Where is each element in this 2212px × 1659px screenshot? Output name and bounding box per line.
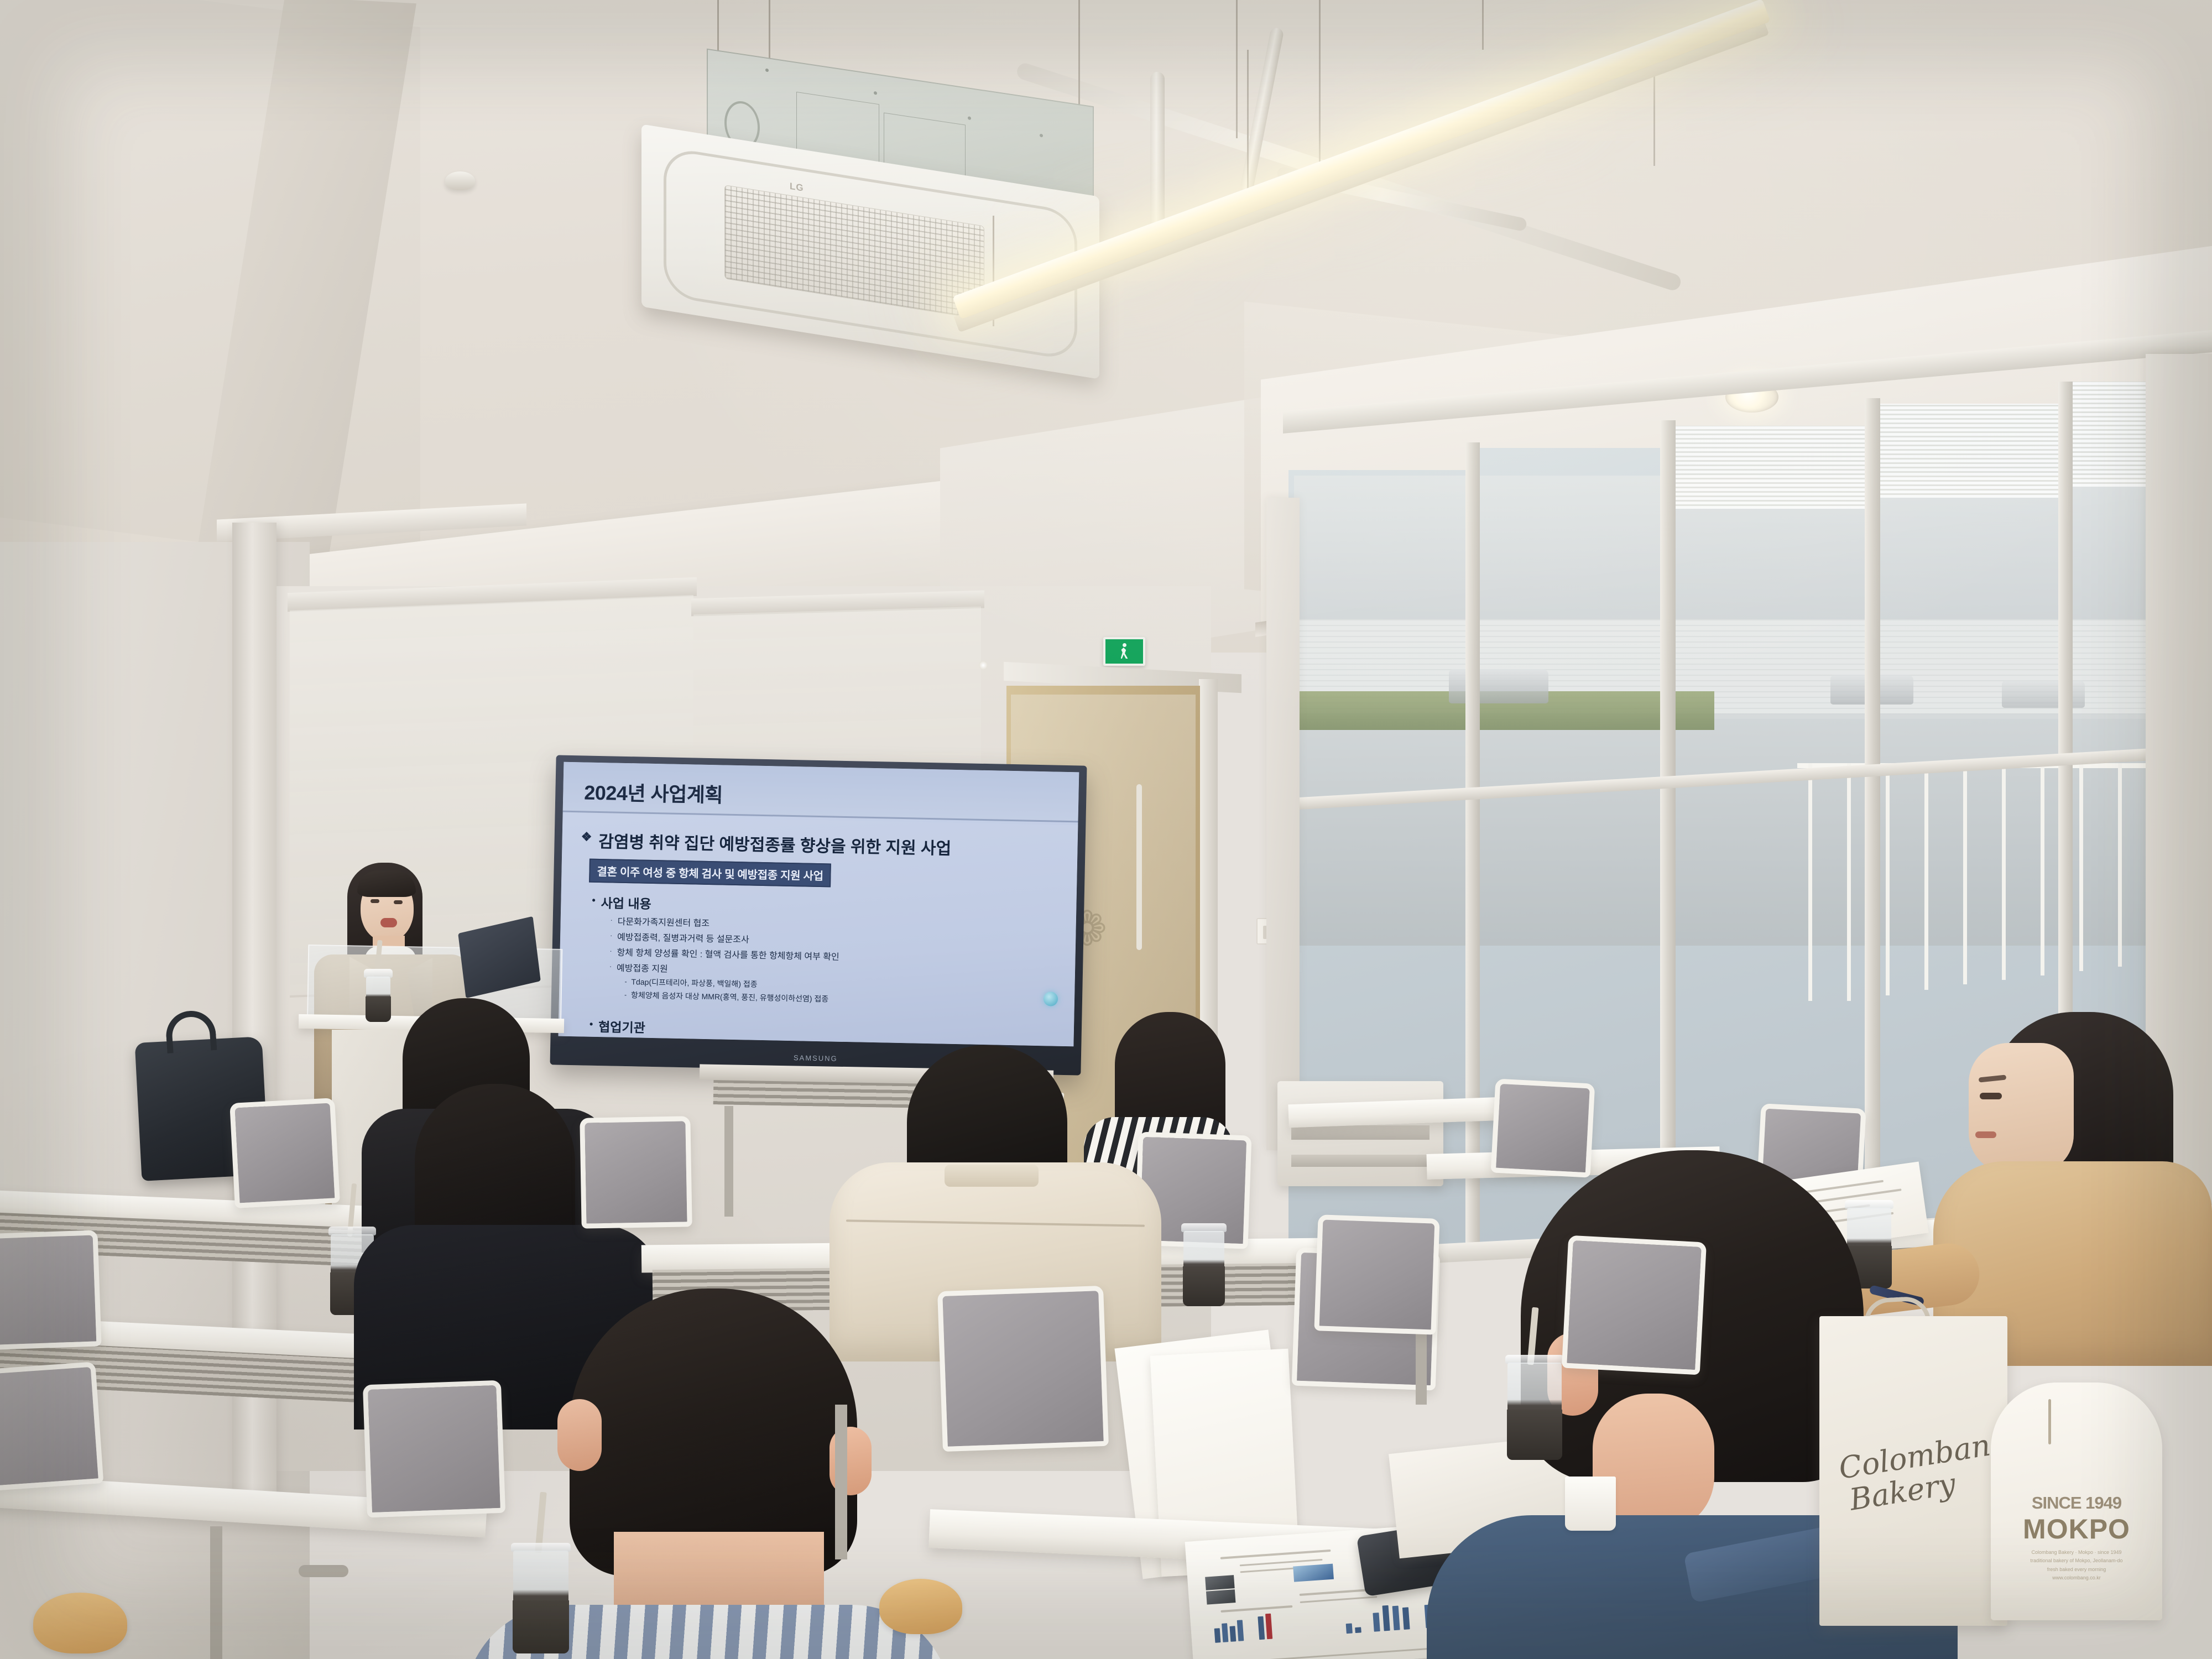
ceiling-smoke-detector bbox=[979, 661, 988, 670]
handout-thumbnail-3 bbox=[1293, 1564, 1334, 1582]
window-pier-1 bbox=[1266, 498, 1300, 1150]
presentation-display: 2024년 사업계획 ❖ 감염병 취약 집단 예방접종률 향상을 위한 지원 사… bbox=[550, 755, 1087, 1075]
pendant-wire-right bbox=[1653, 72, 1655, 166]
cup-sleeve bbox=[1507, 1410, 1562, 1460]
handout-thumbnail-1 bbox=[1205, 1575, 1235, 1590]
exit-sign bbox=[1103, 637, 1145, 666]
diamond-bullet-icon: ❖ bbox=[581, 827, 592, 846]
chair-backrest bbox=[0, 1230, 102, 1350]
attendee-mouth bbox=[1975, 1131, 1996, 1138]
presenter-mouth bbox=[380, 918, 397, 927]
bakery-box-city-label: MOKPO bbox=[1991, 1513, 2162, 1545]
slide-subitem-text: Tdap(디프테리아, 파상풍, 백일해) 접종 bbox=[631, 976, 757, 990]
pastry-front-center bbox=[879, 1579, 962, 1634]
cup-sleeve bbox=[513, 1600, 569, 1653]
bullet-icon-lv3-a: · bbox=[610, 914, 612, 927]
chair-backrest bbox=[0, 1361, 103, 1492]
photo-scene: LG ❁ ▭ bbox=[0, 0, 2212, 1659]
slide-main-bullet: ❖ 감염병 취약 집단 예방접종률 향상을 위한 지원 사업 bbox=[581, 827, 1059, 861]
pastry-front-left bbox=[33, 1593, 127, 1653]
handout-bar bbox=[1346, 1623, 1353, 1634]
window-blind-2[interactable] bbox=[1875, 404, 2063, 498]
window-blind-1[interactable] bbox=[1670, 426, 1869, 509]
pipe-hanger-1 bbox=[1236, 0, 1238, 138]
presenter-eye-left bbox=[371, 899, 379, 903]
bakery-bag: Colombang Bakery bbox=[1819, 1316, 2007, 1626]
exterior-car-1 bbox=[1449, 669, 1548, 703]
chair-caster bbox=[299, 1565, 348, 1577]
slide-item-text: 예방접종 지원 bbox=[617, 961, 668, 975]
slide-section-1-label-text: 사업 내용 bbox=[601, 893, 651, 912]
bullet-icon-lv3-b: · bbox=[610, 929, 612, 942]
chair-backrest bbox=[363, 1380, 505, 1518]
handout-bar bbox=[1229, 1626, 1236, 1642]
desk-leg-center bbox=[835, 1405, 847, 1559]
bullet-icon-lv3-d: · bbox=[609, 960, 612, 973]
slide-body: ❖ 감염병 취약 집단 예방접종률 향상을 위한 지원 사업 결혼 이주 여성 … bbox=[559, 815, 1078, 1047]
iced-coffee-center bbox=[1183, 1223, 1224, 1306]
handout-thumbnail-2 bbox=[1206, 1589, 1236, 1605]
slide-title: 2024년 사업계획 bbox=[584, 776, 723, 808]
handout-bar bbox=[1222, 1623, 1228, 1642]
chair-backrest bbox=[937, 1286, 1109, 1452]
window-mullion-3 bbox=[1865, 398, 1880, 1272]
display-screen: 2024년 사업계획 ❖ 감염병 취약 집단 예방접종률 향상을 위한 지원 사… bbox=[559, 762, 1079, 1047]
ceiling-sprinkler-dome bbox=[445, 171, 475, 190]
iced-coffee-foreground-left bbox=[513, 1543, 568, 1653]
slide-item-text: 항체 항체 양성률 확인 : 혈액 검사를 통한 항체항체 여부 확인 bbox=[617, 945, 839, 963]
bakery-box-fineprint: Colombang Bakery · Mokpo · since 1949 tr… bbox=[2003, 1548, 2150, 1582]
chair-backrest bbox=[1562, 1235, 1707, 1375]
slide-item-text: 다문화가족지원센터 협조 bbox=[617, 914, 709, 929]
pipe-hanger-2 bbox=[1319, 0, 1321, 171]
handout-bar bbox=[1392, 1606, 1400, 1631]
ceiling-ac-cassette: LG bbox=[641, 22, 1150, 376]
slide-main-bullet-text: 감염병 취약 집단 예방접종률 향상을 위한 지원 사업 bbox=[598, 828, 952, 859]
chair-backrest bbox=[1314, 1214, 1439, 1335]
attendee-head bbox=[1969, 1043, 2074, 1173]
iced-coffee-foreground-right bbox=[1507, 1355, 1562, 1460]
bullet-icon-lv4-a: - bbox=[624, 976, 627, 987]
presenter-fringe bbox=[357, 870, 416, 897]
handout-bar bbox=[1237, 1620, 1244, 1641]
printer-output-tray bbox=[1291, 1125, 1430, 1140]
ac-brand-logo: LG bbox=[790, 181, 804, 194]
paper-cup-foreground bbox=[1565, 1477, 1616, 1531]
slide-item-text: 예방접종력, 질병과거력 등 설문조사 bbox=[617, 930, 749, 946]
chair-backrest bbox=[580, 1116, 692, 1228]
chair-leg-left bbox=[210, 1526, 222, 1659]
foreground-ear-left bbox=[557, 1399, 602, 1471]
window-mullion-2 bbox=[1660, 420, 1676, 1272]
bullet-icon-lv3-c: · bbox=[609, 945, 612, 958]
handout-bar bbox=[1383, 1605, 1390, 1631]
attendee-eye bbox=[1980, 1093, 2002, 1099]
bakery-box-crease bbox=[2048, 1399, 2051, 1444]
presenter-eye-right bbox=[394, 900, 403, 904]
attendee-tan-cardigan bbox=[1902, 1012, 2212, 1366]
bakery-box-since-label: SINCE 1949 bbox=[1991, 1493, 2162, 1513]
handout-bar bbox=[1265, 1614, 1272, 1640]
slide-highlight-box: 결혼 이주 여성 중 항체 검사 및 예방접종 지원 사업 bbox=[589, 859, 831, 888]
printer-paper-tray bbox=[1291, 1155, 1430, 1167]
cup-sleeve bbox=[1183, 1266, 1225, 1306]
bullet-icon-lv2-a: • bbox=[592, 893, 596, 911]
handout-bar bbox=[1373, 1613, 1380, 1632]
door-handle-2[interactable] bbox=[1136, 784, 1142, 950]
chair-backrest bbox=[229, 1098, 340, 1208]
window-mullion-1 bbox=[1465, 442, 1480, 1255]
presentation-slide: 2024년 사업계획 ❖ 감염병 취약 집단 예방접종률 향상을 위한 지원 사… bbox=[559, 762, 1079, 1047]
bakery-box: SINCE 1949 MOKPO Colombang Bakery · Mokp… bbox=[1991, 1383, 2162, 1620]
light-hanger-1 bbox=[1247, 50, 1249, 194]
handout-bar bbox=[1214, 1628, 1221, 1643]
handout-bar bbox=[1402, 1607, 1410, 1630]
attendee-jacket-collar bbox=[945, 1165, 1039, 1187]
exit-sign-panel bbox=[1105, 639, 1143, 664]
running-man-icon bbox=[1120, 643, 1129, 660]
display-stand-leg-left bbox=[724, 1106, 733, 1217]
pipe-hanger-3 bbox=[1482, 0, 1484, 50]
handout-bar bbox=[1355, 1627, 1361, 1633]
handout-bar bbox=[1258, 1616, 1265, 1640]
